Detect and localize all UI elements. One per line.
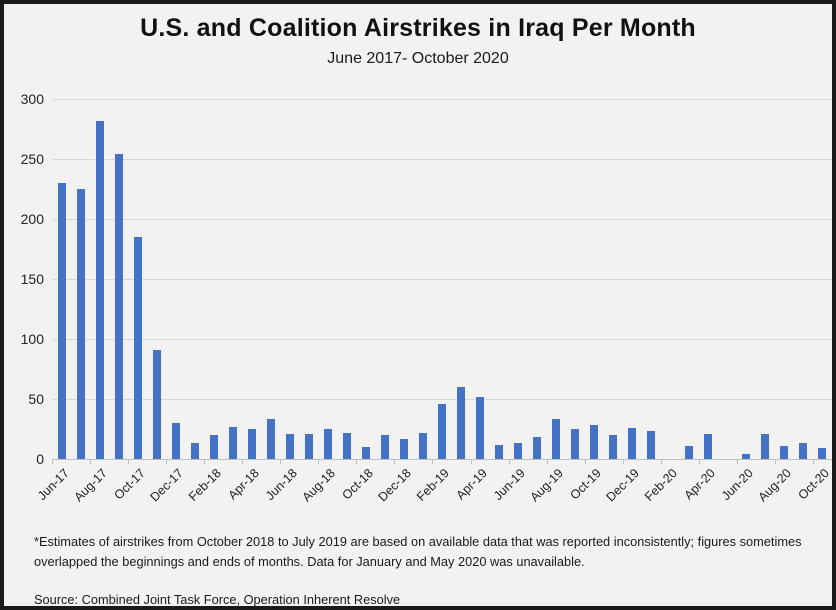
bar[interactable]: [172, 423, 180, 459]
x-axis-tick: [128, 459, 129, 464]
bar[interactable]: [286, 434, 294, 459]
x-axis-tick: [52, 459, 53, 464]
bar[interactable]: [590, 425, 598, 459]
bar[interactable]: [77, 189, 85, 459]
bar[interactable]: [191, 443, 199, 459]
bar[interactable]: [647, 431, 655, 459]
bar[interactable]: [153, 350, 161, 459]
bar[interactable]: [818, 448, 826, 459]
bar[interactable]: [533, 437, 541, 459]
bar[interactable]: [362, 447, 370, 459]
bar[interactable]: [229, 427, 237, 459]
bar[interactable]: [343, 433, 351, 459]
y-axis-tick-label: 200: [10, 211, 44, 227]
plot-wrapper: 050100150200250300 Jun-17Aug-17Oct-17Dec…: [4, 4, 836, 524]
y-axis-tick-label: 0: [10, 451, 44, 467]
y-axis-tick-label: 150: [10, 271, 44, 287]
bar[interactable]: [419, 433, 427, 459]
x-axis-tick: [813, 459, 814, 464]
bar[interactable]: [381, 435, 389, 459]
x-axis-tick: [166, 459, 167, 464]
x-axis-tick: [661, 459, 662, 464]
x-axis-tick: [832, 459, 833, 464]
bar[interactable]: [324, 429, 332, 459]
y-axis-tick-label: 100: [10, 331, 44, 347]
bar[interactable]: [609, 435, 617, 459]
y-axis-tick-label: 50: [10, 391, 44, 407]
bar[interactable]: [457, 387, 465, 459]
bar[interactable]: [552, 419, 560, 459]
bar[interactable]: [58, 183, 66, 459]
x-axis-tick: [471, 459, 472, 464]
bar[interactable]: [438, 404, 446, 459]
x-axis-tick: [204, 459, 205, 464]
bar-series: [52, 99, 832, 459]
footnote-text: *Estimates of airstrikes from October 20…: [34, 532, 808, 572]
x-axis-tick: [699, 459, 700, 464]
y-axis-tick-label: 300: [10, 91, 44, 107]
bar[interactable]: [514, 443, 522, 459]
x-axis-line: [52, 459, 832, 460]
bar[interactable]: [628, 428, 636, 459]
bar[interactable]: [115, 154, 123, 459]
x-axis-tick: [509, 459, 510, 464]
x-axis-tick: [280, 459, 281, 464]
bar[interactable]: [495, 445, 503, 459]
x-axis-tick: [547, 459, 548, 464]
bar[interactable]: [799, 443, 807, 459]
bar[interactable]: [571, 429, 579, 459]
x-axis-tick: [90, 459, 91, 464]
x-axis-tick: [775, 459, 776, 464]
bar[interactable]: [685, 446, 693, 459]
x-axis-tick: [623, 459, 624, 464]
bar[interactable]: [267, 419, 275, 459]
y-axis-tick-label: 250: [10, 151, 44, 167]
chart-container: U.S. and Coalition Airstrikes in Iraq Pe…: [0, 0, 836, 610]
plot-area: [52, 99, 832, 459]
x-axis-tick: [356, 459, 357, 464]
bar[interactable]: [248, 429, 256, 459]
bar[interactable]: [210, 435, 218, 459]
bar[interactable]: [780, 446, 788, 459]
bar[interactable]: [761, 434, 769, 459]
notes-block: *Estimates of airstrikes from October 20…: [34, 532, 808, 607]
bar[interactable]: [96, 121, 104, 459]
bar[interactable]: [134, 237, 142, 459]
x-axis-tick: [318, 459, 319, 464]
bar[interactable]: [400, 439, 408, 459]
x-axis-tick: [242, 459, 243, 464]
x-axis-tick: [432, 459, 433, 464]
x-axis-tick: [737, 459, 738, 464]
bar[interactable]: [476, 397, 484, 459]
bar[interactable]: [704, 434, 712, 459]
bar[interactable]: [305, 434, 313, 459]
source-text: Source: Combined Joint Task Force, Opera…: [34, 592, 808, 607]
x-axis-tick: [394, 459, 395, 464]
x-axis-tick: [585, 459, 586, 464]
